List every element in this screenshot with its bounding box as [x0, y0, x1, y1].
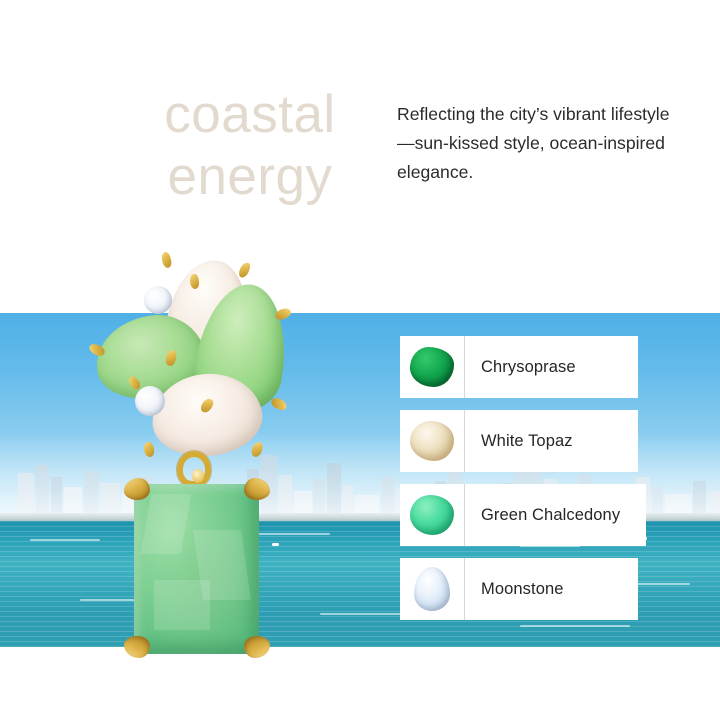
chrysoprase-center-stone [134, 484, 259, 654]
chrysoprase-stone-icon [410, 347, 454, 387]
page-title: coastal energy [100, 84, 400, 208]
moonstone-swatch-cell [400, 558, 465, 620]
legend-label-white-topaz: White Topaz [465, 432, 573, 451]
white-topaz-swatch-cell [400, 410, 465, 472]
legend-row-chrysoprase[interactable]: Chrysoprase [400, 336, 638, 398]
moonstone-accent-upper [144, 286, 172, 314]
chrysoprase-swatch-cell [400, 336, 465, 398]
claw-bottom-right [244, 636, 270, 658]
green-chalcedony-swatch-cell [400, 484, 465, 546]
headline-line-2: energy [100, 146, 400, 208]
headline-line-1: coastal [164, 85, 335, 144]
green-chalcedony-stone-icon [410, 495, 454, 535]
body-copy: Reflecting the city’s vibrant lifestyle—… [397, 100, 672, 187]
gemstone-pendant [92, 246, 312, 666]
claw-top-right [244, 478, 270, 500]
legend-row-green-chalcedony[interactable]: Green Chalcedony [400, 484, 646, 546]
legend-label-chrysoprase: Chrysoprase [465, 358, 576, 377]
poster-canvas: coastal energy Reflecting the city’s vib… [0, 0, 720, 720]
legend-row-white-topaz[interactable]: White Topaz [400, 410, 638, 472]
pendant-bail [177, 451, 211, 487]
claw-bottom-left [124, 636, 150, 658]
moonstone-stone-icon [414, 567, 450, 611]
moonstone-accent-lower [135, 386, 165, 416]
legend-label-moonstone: Moonstone [465, 580, 564, 599]
legend-row-moonstone[interactable]: Moonstone [400, 558, 638, 620]
claw-top-left [124, 478, 150, 500]
gemstone-legend: Chrysoprase White Topaz Green Chalcedony… [400, 336, 646, 632]
white-topaz-stone-icon [410, 421, 454, 461]
legend-label-green-chalcedony: Green Chalcedony [465, 506, 620, 525]
